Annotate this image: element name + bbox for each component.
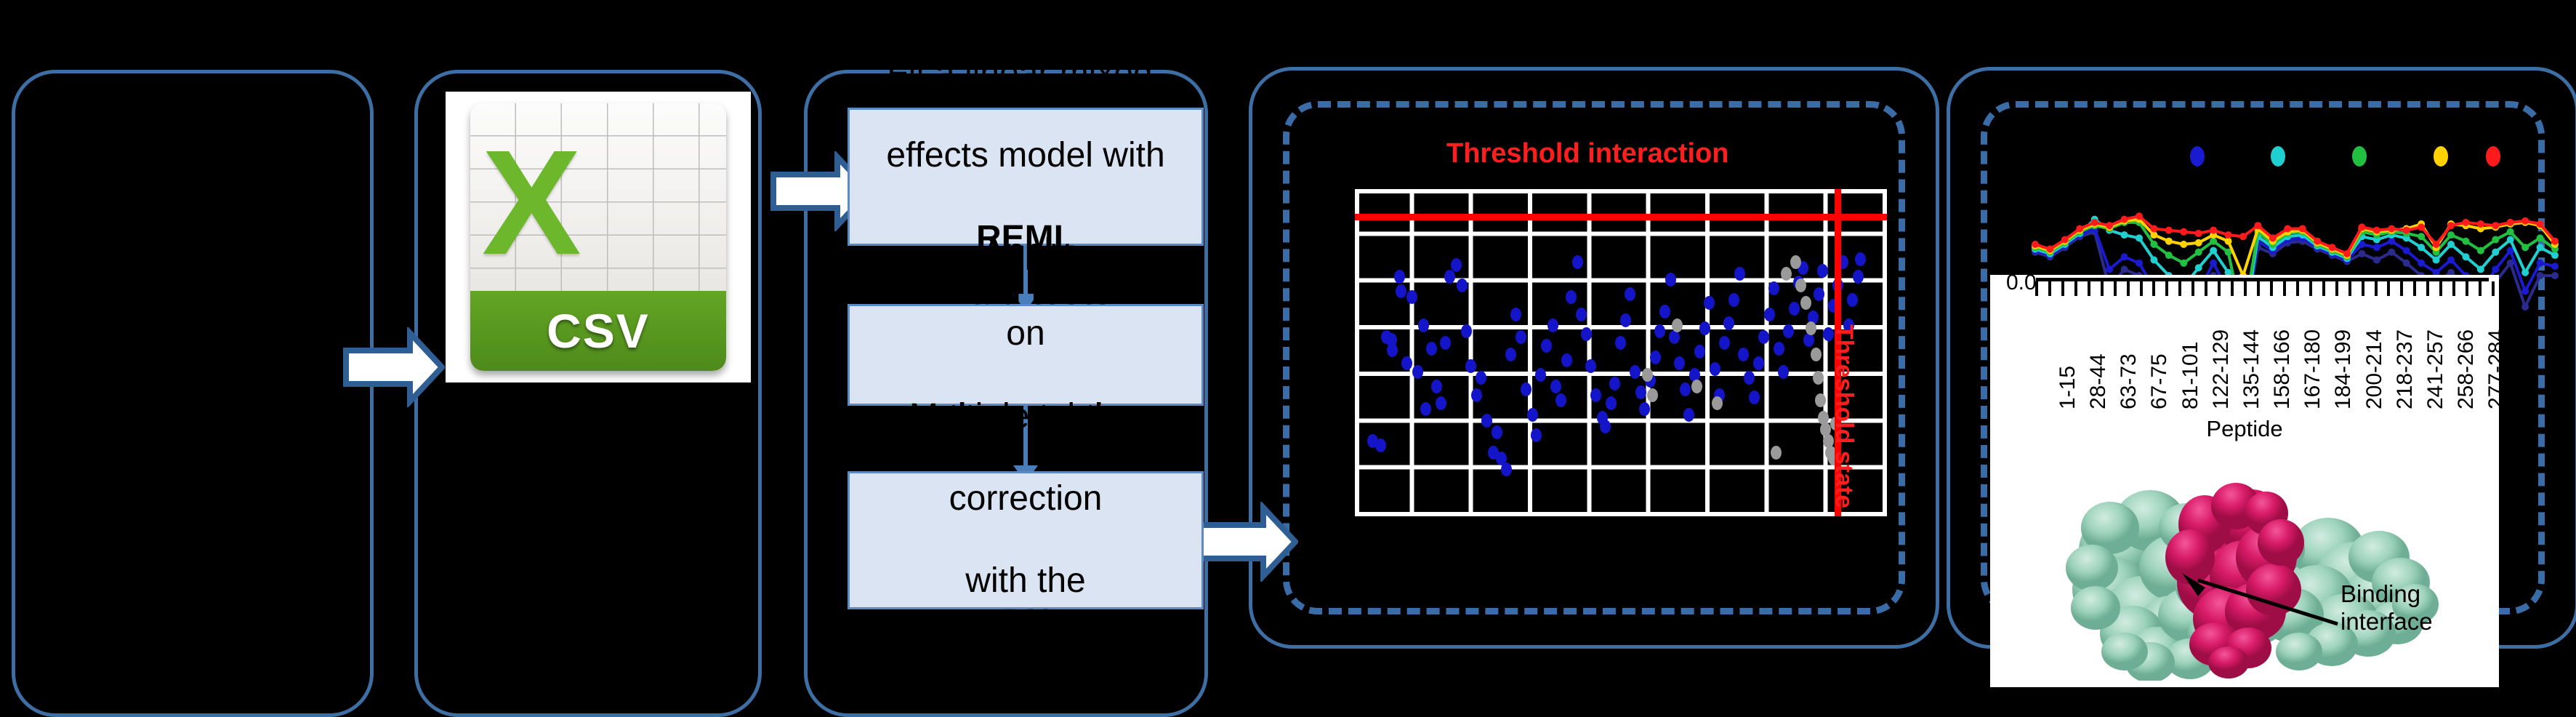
scatter-point <box>1774 342 1784 356</box>
scatter-point <box>1814 287 1824 301</box>
line-marker <box>2121 216 2128 223</box>
scatter-point <box>1620 313 1631 327</box>
scatter-point <box>1764 308 1775 321</box>
scatter-point <box>1738 348 1749 361</box>
peptide-tick-label: 200-214 <box>2362 329 2387 409</box>
scatter-point <box>1815 393 1826 407</box>
line-marker <box>2358 250 2365 257</box>
line-marker <box>2195 239 2202 247</box>
line-marker <box>2106 222 2113 229</box>
peptide-tick-label: 1-15 <box>2056 366 2080 409</box>
line-marker <box>2537 220 2544 228</box>
line-marker <box>2537 234 2544 241</box>
peptide-axis-and-structure-image: 0.0 1-1528-4463-7367-7581-101122-129135-… <box>1990 275 2499 687</box>
line-marker <box>2551 238 2559 245</box>
scatter-point <box>1691 380 1702 393</box>
line-marker <box>2388 225 2395 233</box>
peptide-tick-label: 158-166 <box>2270 329 2295 409</box>
scatter-point <box>1561 353 1572 367</box>
scatter-plot-figure: Threshold interaction Threshold state <box>1352 145 1890 524</box>
threshold-state-label: Threshold state <box>1830 324 1858 508</box>
scatter-point <box>1531 428 1542 442</box>
line-marker <box>2462 238 2469 245</box>
scatter-point <box>1813 371 1824 385</box>
scatter-point <box>1855 252 1866 266</box>
scatter-point <box>1550 380 1561 393</box>
scatter-point <box>1521 382 1531 396</box>
line-marker <box>2433 241 2440 248</box>
peptide-tick-label: 63-73 <box>2117 353 2141 409</box>
scatter-point <box>1683 408 1694 422</box>
line-marker <box>2551 252 2559 259</box>
scatter-point <box>1749 390 1760 404</box>
scatter-point <box>1847 293 1858 307</box>
scatter-point <box>1811 348 1822 361</box>
legend-dot-green <box>2352 146 2367 167</box>
threshold-interaction-line <box>1355 214 1887 220</box>
line-marker <box>2403 247 2410 255</box>
line-marker <box>2180 260 2187 267</box>
scatter-point <box>1795 279 1806 292</box>
line-marker <box>2343 250 2351 257</box>
scatter-point <box>1615 336 1626 350</box>
line-marker <box>2477 247 2484 255</box>
protein-structure-image <box>2041 441 2448 681</box>
scatter-point <box>1650 351 1661 364</box>
line-marker <box>2521 217 2529 225</box>
scatter-point <box>1481 414 1492 428</box>
scatter-point <box>1728 293 1739 307</box>
line-marker <box>2180 241 2187 248</box>
line-marker <box>2210 260 2217 267</box>
legend-dot-blue <box>2190 146 2205 167</box>
protein-surface-blob <box>2071 586 2120 630</box>
scatter-point <box>1680 382 1691 396</box>
line-marker <box>2165 238 2173 245</box>
scatter-point <box>1758 330 1769 344</box>
scatter-point <box>1431 380 1442 393</box>
scatter-point <box>1547 319 1558 332</box>
line-marker <box>2492 249 2499 256</box>
scatter-point <box>1606 396 1617 410</box>
line-marker <box>2032 241 2039 248</box>
scatter-point <box>1375 438 1386 452</box>
scatter-point <box>1609 377 1620 390</box>
scatter-point <box>1600 420 1611 433</box>
csv-label-band: CSV <box>470 291 727 371</box>
line-marker <box>2447 222 2455 229</box>
line-marker <box>2106 265 2113 273</box>
scatter-point <box>1476 371 1486 385</box>
scatter-point <box>1744 371 1755 385</box>
panel-input[interactable] <box>12 70 374 717</box>
line-marker <box>2418 233 2425 240</box>
line-marker <box>2195 264 2202 271</box>
scatter-point <box>1789 302 1800 316</box>
scatter-point <box>1783 324 1794 338</box>
line-marker <box>2477 220 2484 228</box>
peptide-tick-label: 167-180 <box>2301 329 2325 409</box>
step-model-box[interactable]: Fit a linear mixed- effects model with R… <box>848 108 1204 246</box>
scatter-point <box>1527 408 1538 422</box>
line-marker <box>2507 228 2514 236</box>
scatter-point <box>1803 333 1814 347</box>
line-marker <box>2076 225 2083 233</box>
scatter-point <box>1406 290 1417 304</box>
line-marker <box>2373 244 2380 251</box>
scatter-point <box>1669 330 1680 344</box>
line-marker <box>2121 231 2128 239</box>
scatter-point <box>1778 365 1789 379</box>
scatter-point <box>1461 324 1472 338</box>
scatter-point <box>1590 388 1601 402</box>
line-marker <box>2521 303 2529 311</box>
line-marker <box>2225 231 2232 239</box>
scatter-point <box>1394 270 1405 284</box>
line-marker <box>2507 236 2514 244</box>
scatter-points-layer <box>1355 189 1887 516</box>
peptide-tick-label: 241-257 <box>2423 329 2448 409</box>
line-marker <box>2418 244 2425 251</box>
scatter-point <box>1505 348 1516 361</box>
legend-dot-red <box>2486 146 2500 167</box>
line-marker <box>2210 227 2217 234</box>
scatter-point <box>1654 324 1665 338</box>
line-marker <box>2521 269 2529 276</box>
line-marker <box>2150 231 2157 239</box>
line-marker <box>2388 238 2395 245</box>
line-marker <box>2418 260 2425 267</box>
line-marker <box>2046 245 2053 252</box>
line-marker <box>2551 272 2559 279</box>
peptide-tick-label: 135-144 <box>2239 329 2264 409</box>
scatter-point <box>1501 462 1512 476</box>
scatter-point <box>1510 308 1521 321</box>
line-marker <box>2239 233 2247 240</box>
scatter-axes: Threshold state <box>1355 189 1887 516</box>
scatter-point <box>1465 359 1476 373</box>
scatter-point <box>1672 319 1683 332</box>
scatter-point <box>1401 356 1412 370</box>
scatter-point <box>1572 255 1583 269</box>
scatter-point <box>1426 342 1437 356</box>
peptide-tick-label: 67-75 <box>2147 353 2172 409</box>
scatter-point <box>1642 368 1653 382</box>
scatter-point <box>1723 316 1734 330</box>
line-marker <box>2136 212 2143 220</box>
binding-interface-label: Binding interface <box>2340 580 2433 636</box>
scatter-point <box>1719 336 1730 350</box>
line-marker <box>2195 230 2202 237</box>
scatter-point <box>1635 385 1646 399</box>
scatter-point <box>1440 336 1451 350</box>
line-marker <box>2403 260 2410 267</box>
line-marker <box>2373 257 2380 264</box>
scatter-point <box>1566 290 1577 304</box>
scatter-point <box>1853 270 1864 284</box>
peptide-tick-label: 28-44 <box>2086 353 2111 409</box>
line-marker <box>2061 236 2069 244</box>
peptide-surface-blob <box>2258 519 2304 566</box>
line-marker <box>2551 263 2559 270</box>
protein-surface-blob <box>2276 633 2322 670</box>
scatter-point <box>1492 425 1502 439</box>
line-marker <box>2537 260 2544 267</box>
scatter-point <box>1699 321 1710 335</box>
scatter-point <box>1665 273 1676 287</box>
line-marker <box>2165 252 2173 259</box>
line-marker <box>2121 265 2128 273</box>
arrow-to-results <box>1196 502 1298 582</box>
binding-interface-arrow-icon <box>2172 566 2346 631</box>
scatter-point <box>1781 267 1792 281</box>
line-marker <box>2210 247 2217 255</box>
line-marker <box>2150 257 2157 264</box>
line-marker <box>2447 241 2455 248</box>
line-marker <box>2210 238 2217 245</box>
scatter-point <box>1817 264 1828 278</box>
line-marker <box>2462 253 2469 260</box>
scatter-point <box>1420 402 1431 416</box>
scatter-point <box>1771 446 1782 460</box>
line-marker <box>2418 223 2425 231</box>
protein-surface-blob <box>2101 633 2148 670</box>
line-marker <box>2537 272 2544 279</box>
csv-file-icon[interactable]: X CSV <box>446 92 751 382</box>
line-marker <box>2121 253 2128 260</box>
excel-x-icon: X <box>475 114 588 291</box>
scatter-point <box>1412 365 1423 379</box>
line-marker <box>2492 236 2499 244</box>
scatter-point <box>1625 287 1635 301</box>
line-marker <box>2507 219 2514 226</box>
scatter-point <box>1444 270 1455 284</box>
scatter-point <box>1581 327 1592 341</box>
line-marker <box>2388 249 2395 256</box>
line-marker <box>2225 238 2232 245</box>
line-marker <box>2284 225 2291 233</box>
line-marker <box>2254 222 2261 229</box>
step-bh-box[interactable]: Multiple testing correction with the BH … <box>848 471 1204 609</box>
line-marker <box>2447 257 2455 264</box>
line-marker <box>2373 227 2380 234</box>
line-marker <box>2537 244 2544 251</box>
scatter-point <box>1710 362 1720 376</box>
peptide-tick-label: 258-266 <box>2454 329 2479 409</box>
line-marker <box>2136 260 2143 267</box>
scatter-point <box>1704 296 1715 310</box>
line-marker <box>2269 234 2277 241</box>
line-marker <box>2329 244 2336 251</box>
scatter-point <box>1768 281 1779 295</box>
line-marker <box>2195 249 2202 256</box>
line-marker <box>2136 234 2143 241</box>
scatter-point <box>1541 339 1552 353</box>
scatter-point <box>1674 356 1685 370</box>
line-marker <box>2492 222 2499 229</box>
peptide-tick-label: 184-199 <box>2331 329 2356 409</box>
scatter-point <box>1659 305 1670 319</box>
arrow-to-csv <box>343 327 445 407</box>
peptide-tick-label: 81-101 <box>2178 342 2203 409</box>
line-marker <box>2492 265 2499 273</box>
scatter-point <box>1576 308 1587 321</box>
scatter-point <box>1647 388 1658 402</box>
line-marker <box>2299 225 2306 233</box>
scatter-point <box>1585 359 1596 373</box>
step-wald-box[interactable]: Apply Wald tests on the model parameters <box>848 304 1204 406</box>
line-marker <box>2180 228 2187 236</box>
scatter-point <box>1694 345 1705 358</box>
scatter-point <box>1734 267 1745 281</box>
peptide-surface-blob <box>2208 646 2249 678</box>
scatter-point <box>1753 356 1764 370</box>
line-marker <box>2462 219 2469 226</box>
scatter-point <box>1630 365 1641 379</box>
scatter-point <box>1516 330 1526 344</box>
scatter-point <box>1555 393 1566 407</box>
scatter-point <box>1471 388 1482 402</box>
scatter-point <box>1535 368 1546 382</box>
line-marker <box>2091 219 2098 226</box>
scatter-point <box>1457 279 1468 292</box>
line-marker <box>2521 288 2529 295</box>
line-marker <box>2521 244 2529 251</box>
scatter-point <box>1396 284 1406 298</box>
protein-surface-blob <box>2066 545 2118 591</box>
line-marker <box>2403 227 2410 234</box>
line-marker <box>2477 265 2484 273</box>
line-marker <box>2150 225 2157 233</box>
line-marker <box>2150 241 2157 248</box>
line-marker <box>2165 227 2173 234</box>
scatter-point <box>1806 321 1816 335</box>
legend-dot-cyan <box>2271 146 2285 167</box>
peptide-tick-label: 218-237 <box>2393 329 2418 409</box>
scatter-point <box>1639 402 1650 416</box>
line-marker <box>2447 231 2455 239</box>
line-marker <box>2433 257 2440 264</box>
legend-dot-yellow <box>2434 146 2448 167</box>
scatter-point <box>1800 296 1811 310</box>
scatter-title: Threshold interaction <box>1446 138 1728 169</box>
scatter-point <box>1418 319 1429 332</box>
peptide-tick-label: 277-284 <box>2484 329 2499 409</box>
step-bh-text: Multiple testing correction with the BH … <box>901 396 1151 684</box>
line-marker <box>2314 238 2321 245</box>
x-axis-title: Peptide <box>1990 416 2499 442</box>
scatter-point <box>1436 396 1446 410</box>
csv-icon-body: X CSV <box>470 103 727 371</box>
peptide-tick-label: 122-129 <box>2209 329 2234 409</box>
scatter-point <box>1451 258 1462 272</box>
scatter-point <box>1387 343 1398 357</box>
line-marker <box>2358 223 2365 231</box>
scatter-point <box>1712 396 1723 410</box>
